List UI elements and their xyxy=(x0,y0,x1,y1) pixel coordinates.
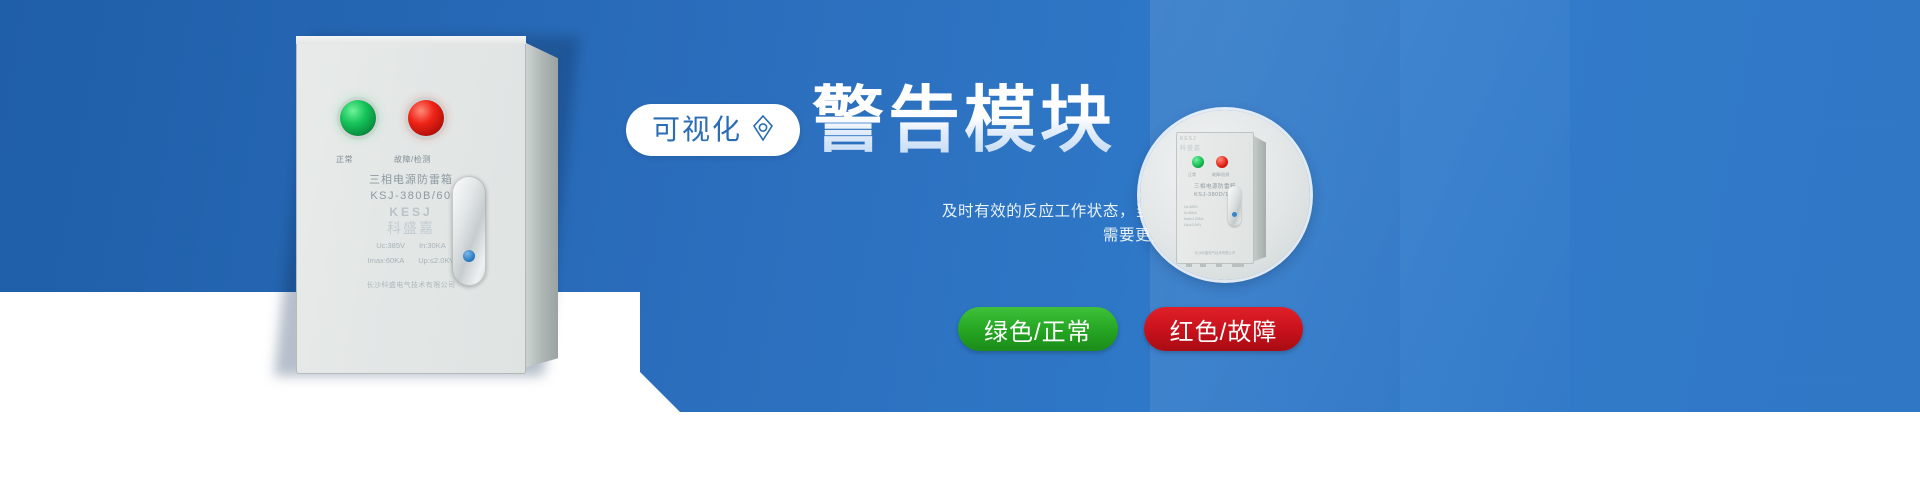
location-diamond-icon xyxy=(752,115,774,146)
product-brand-en: KESJ xyxy=(296,205,526,220)
indicator-led-red xyxy=(408,100,444,136)
inset-spec-4: Up:≤2.0KV xyxy=(1184,222,1204,228)
inset-led-red xyxy=(1216,156,1228,168)
inset-led-green-label: 正常 xyxy=(1188,172,1196,178)
status-badge-group: 绿色/正常 红色/故障 xyxy=(958,307,1303,351)
product-faceplate-text: 三相电源防雷箱 KSJ-380B/60 KESJ 科盛嘉 Uc:385V In:… xyxy=(296,172,526,266)
inset-door-latch-icon xyxy=(1228,186,1241,226)
status-badge-normal: 绿色/正常 xyxy=(958,307,1118,351)
led-red-label: 故障/检测 xyxy=(394,154,431,165)
product-title: 三相电源防雷箱 xyxy=(296,172,526,188)
product-enclosure-front: 正常 故障/检测 三相电源防雷箱 KSJ-380B/60 KESJ 科盛嘉 Uc… xyxy=(296,36,526,374)
headline-title: 警告模块 xyxy=(812,80,1116,162)
door-latch-handle-icon xyxy=(452,176,486,286)
product-spec-row-1: Uc:385V In:30KA xyxy=(296,240,526,251)
spec-in: In:30KA xyxy=(419,240,446,251)
spec-imax: Imax:60KA xyxy=(368,255,405,266)
product-image-inset: KESJ 科盛嘉 正常 故障/检测 三相电源防雷箱 KSJ-380D/120 U… xyxy=(1176,132,1268,264)
inset-title: 三相电源防雷箱 xyxy=(1176,182,1254,190)
inset-brand-en: KESJ xyxy=(1180,136,1197,142)
inset-enclosure-front: KESJ 科盛嘉 正常 故障/检测 三相电源防雷箱 KSJ-380D/120 U… xyxy=(1176,132,1254,264)
product-image-main: 正常 故障/检测 三相电源防雷箱 KSJ-380B/60 KESJ 科盛嘉 Uc… xyxy=(296,36,560,374)
inset-model: KSJ-380D/120 xyxy=(1176,192,1254,198)
inset-company-name: 长沙科盛电气技术有限公司 xyxy=(1176,250,1254,255)
inset-enclosure-side xyxy=(1252,135,1266,262)
product-top-bevel xyxy=(296,36,526,44)
product-company-name: 长沙科盛电气技术有限公司 xyxy=(296,280,526,290)
product-spec-row-2: Imax:60KA Up:≤2.0KV xyxy=(296,255,526,266)
background-white-right xyxy=(920,412,1920,500)
visualization-pill: 可视化 xyxy=(626,104,800,156)
inset-led-red-label: 故障/检测 xyxy=(1212,172,1229,178)
inset-latch-dot xyxy=(1232,212,1237,217)
inset-spec-block: Uc:385V In:40KA Imax:120KA Up:≤2.0KV xyxy=(1184,204,1204,228)
product-model: KSJ-380B/60 xyxy=(296,188,526,205)
product-inset-circle: KESJ 科盛嘉 正常 故障/检测 三相电源防雷箱 KSJ-380D/120 U… xyxy=(1140,110,1310,280)
promo-banner: 正常 故障/检测 三相电源防雷箱 KSJ-380B/60 KESJ 科盛嘉 Uc… xyxy=(0,0,1920,500)
indicator-led-green xyxy=(340,100,376,136)
spec-up: Up:≤2.0KV xyxy=(418,255,454,266)
inset-led-green xyxy=(1192,156,1204,168)
latch-lock-dot xyxy=(463,250,475,262)
visualization-pill-label: 可视化 xyxy=(652,116,742,144)
inset-mounting-feet xyxy=(1186,263,1244,267)
product-brand-cn: 科盛嘉 xyxy=(296,220,526,236)
status-badge-fault: 红色/故障 xyxy=(1144,307,1304,351)
inset-brand-cn: 科盛嘉 xyxy=(1180,143,1201,152)
spec-uc: Uc:385V xyxy=(376,240,405,251)
led-green-label: 正常 xyxy=(336,154,353,165)
product-enclosure-side xyxy=(524,42,558,368)
